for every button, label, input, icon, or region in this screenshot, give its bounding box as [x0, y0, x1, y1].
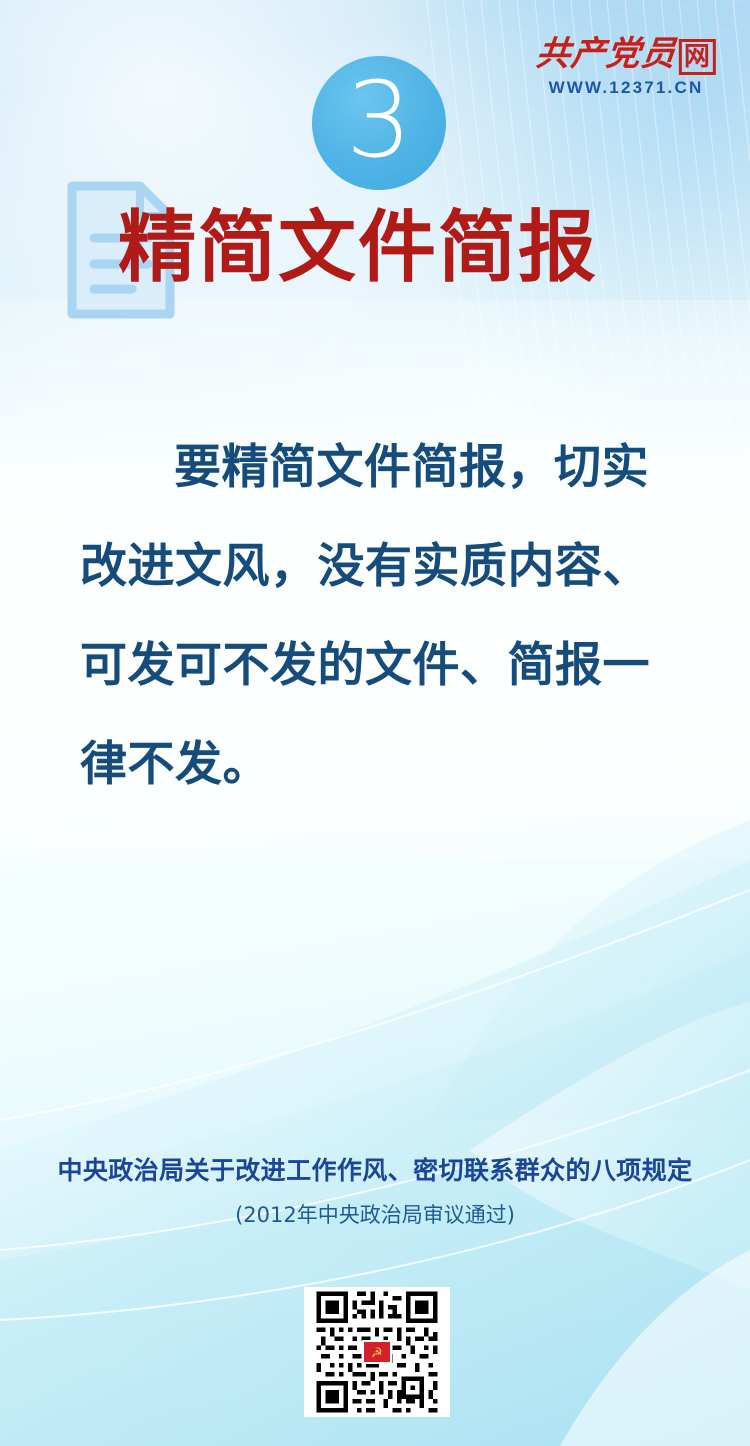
- party-emblem-icon: ☭: [362, 1340, 392, 1364]
- footer-regulation-subtitle: (2012年中央政治局审议通过): [0, 1200, 750, 1230]
- poster-root: 3 共产党员网 WWW.12371.CN 精简文件简报 要精简文件简报，切实改进…: [0, 0, 750, 1446]
- hammer-sickle-glyph: ☭: [371, 1346, 383, 1359]
- step-number-badge: 3: [312, 56, 446, 190]
- logo-wordmark: 共产党员网: [514, 36, 738, 75]
- body-paragraph: 要精简文件简报，切实改进文风，没有实质内容、可发可不发的文件、简报一律不发。: [80, 418, 680, 814]
- page-title: 精简文件简报: [118, 205, 598, 291]
- site-logo[interactable]: 共产党员网 WWW.12371.CN: [516, 36, 736, 100]
- qr-code[interactable]: ☭: [304, 1287, 450, 1417]
- logo-boxed-character: 网: [679, 39, 716, 75]
- logo-wordmark-text: 共产党员: [534, 34, 678, 74]
- logo-url: WWW.12371.CN: [516, 77, 736, 99]
- step-number: 3: [346, 68, 412, 172]
- footer-regulation-title: 中央政治局关于改进工作作风、密切联系群众的八项规定: [0, 1154, 750, 1188]
